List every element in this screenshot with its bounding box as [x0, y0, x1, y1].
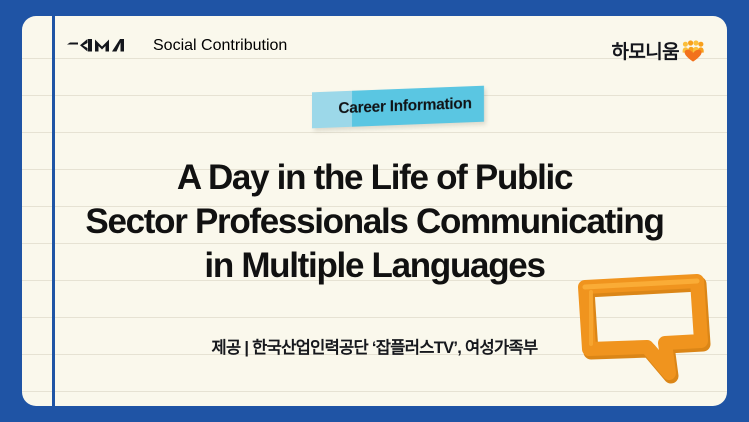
brand-lockup: Social Contribution — [66, 36, 287, 55]
harmonium-lockup: 하모니움 — [611, 37, 705, 64]
kia-logo — [66, 36, 140, 55]
social-contribution-card: Social Contribution 하모니움 — [0, 0, 749, 422]
notebook-page: Social Contribution 하모니움 — [22, 16, 727, 406]
harmonium-people-heart-icon — [681, 40, 705, 62]
speech-bubble-illustration — [571, 270, 727, 390]
title-line-3: in Multiple Languages — [48, 244, 701, 288]
harmonium-text: 하모니움 — [611, 37, 679, 64]
card-header: Social Contribution 하모니움 — [22, 16, 727, 78]
career-information-badge-wrap: Career Information — [292, 83, 492, 131]
credit-line: 제공 | 한국산업인력공단 ‘잡플러스TV’, 여성가족부 — [22, 334, 727, 358]
brand-text: Social Contribution — [153, 37, 287, 55]
page-title: A Day in the Life of Public Sector Profe… — [22, 156, 727, 288]
badge-label: Career Information — [312, 86, 484, 129]
title-line-1: A Day in the Life of Public — [48, 156, 701, 200]
title-line-2: Sector Professionals Communicating — [48, 200, 701, 244]
career-information-badge: Career Information — [312, 86, 484, 129]
